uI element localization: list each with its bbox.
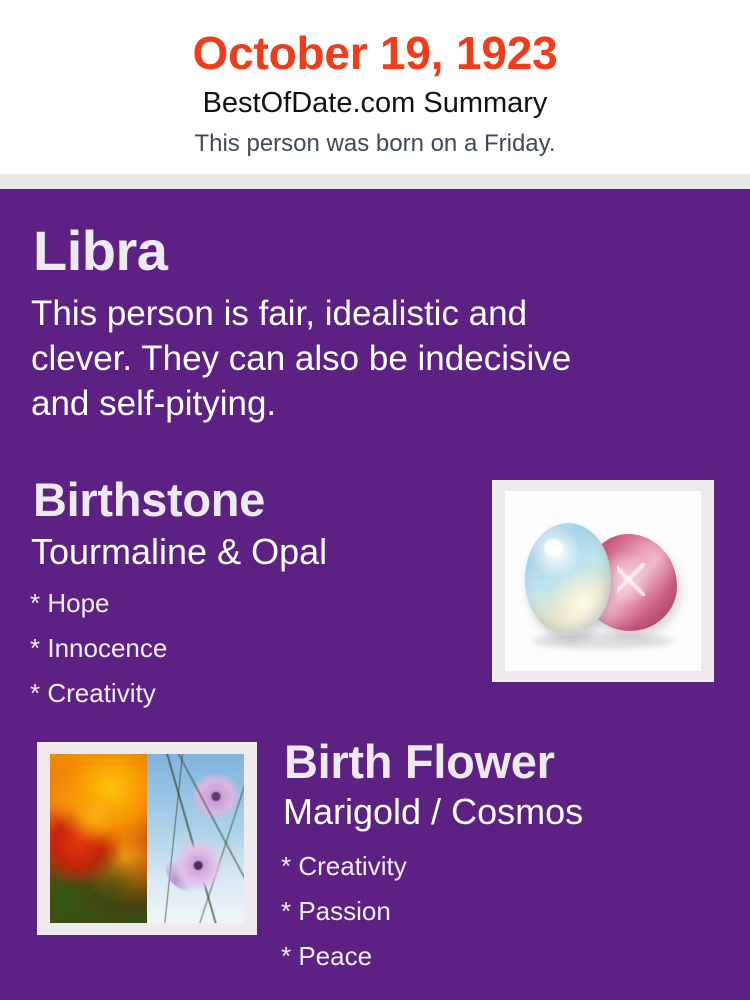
birthstone-trait-list: * Hope * Innocence * Creativity xyxy=(30,581,167,716)
born-day-note: This person was born on a Friday. xyxy=(0,128,750,160)
cosmos-stems xyxy=(147,754,244,923)
content-section: Libra This person is fair, idealistic an… xyxy=(0,189,750,1000)
birth-flower-trait-list: * Creativity * Passion * Peace xyxy=(281,844,407,979)
list-item: * Creativity xyxy=(30,671,167,716)
list-item: * Peace xyxy=(281,934,407,979)
birth-flower-image xyxy=(50,754,244,923)
birth-flower-names: Marigold / Cosmos xyxy=(283,790,583,834)
list-item: * Hope xyxy=(30,581,167,626)
birth-flower-heading: Birth Flower xyxy=(284,734,555,790)
birth-flower-image-frame xyxy=(37,742,257,935)
birthstone-image-frame xyxy=(492,480,714,682)
birthstone-heading: Birthstone xyxy=(33,472,265,528)
zodiac-sign-title: Libra xyxy=(33,219,167,283)
site-summary-label: BestOfDate.com Summary xyxy=(0,85,750,121)
birthstone-image xyxy=(505,491,701,671)
header-section: October 19, 1923 BestOfDate.com Summary … xyxy=(0,0,750,174)
opal-gem-icon xyxy=(525,523,611,635)
page-title-date: October 19, 1923 xyxy=(0,24,750,82)
birthstone-names: Tourmaline & Opal xyxy=(31,530,327,574)
zodiac-description: This person is fair, idealistic and clev… xyxy=(31,291,611,426)
gem-shadow xyxy=(532,633,673,649)
cosmos-photo-half xyxy=(147,754,244,923)
list-item: * Passion xyxy=(281,889,407,934)
list-item: * Creativity xyxy=(281,844,407,889)
list-item: * Innocence xyxy=(30,626,167,671)
header-divider xyxy=(0,174,750,189)
marigold-photo-half xyxy=(50,754,147,923)
birthday-summary-card: October 19, 1923 BestOfDate.com Summary … xyxy=(0,0,750,1000)
